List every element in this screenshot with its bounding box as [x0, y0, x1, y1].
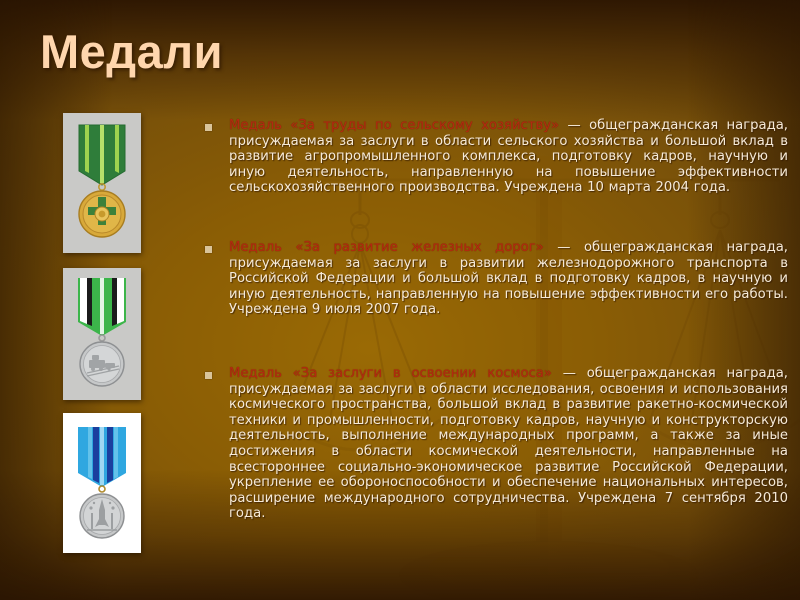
square-bullet-icon	[205, 246, 212, 253]
medal-image-railways	[63, 268, 141, 400]
award-description: — общегражданская награда, присуждаемая …	[229, 366, 788, 521]
bullet-list: Медаль «За труды по сельскому хозяйству»…	[200, 118, 788, 546]
list-item: Медаль «За труды по сельскому хозяйству»…	[200, 118, 788, 196]
square-bullet-icon	[205, 124, 212, 131]
bullet-paragraph: Медаль «За заслуги в освоении космоса» —…	[229, 366, 788, 522]
square-bullet-icon	[205, 372, 212, 379]
medal-image-space	[63, 413, 141, 553]
bullet-paragraph: Медаль «За труды по сельскому хозяйству»…	[229, 118, 788, 196]
award-name: Медаль «За развитие железных дорог»	[229, 240, 544, 255]
list-item: Медаль «За развитие железных дорог» — об…	[200, 240, 788, 318]
list-item: Медаль «За заслуги в освоении космоса» —…	[200, 366, 788, 522]
medal-image-agriculture	[63, 113, 141, 253]
bullet-paragraph: Медаль «За развитие железных дорог» — об…	[229, 240, 788, 318]
presentation-slide: Медали	[0, 0, 800, 600]
award-name: Медаль «За заслуги в освоении космоса»	[229, 366, 552, 381]
slide-title: Медали	[40, 24, 223, 79]
award-name: Медаль «За труды по сельскому хозяйству»	[229, 118, 559, 133]
